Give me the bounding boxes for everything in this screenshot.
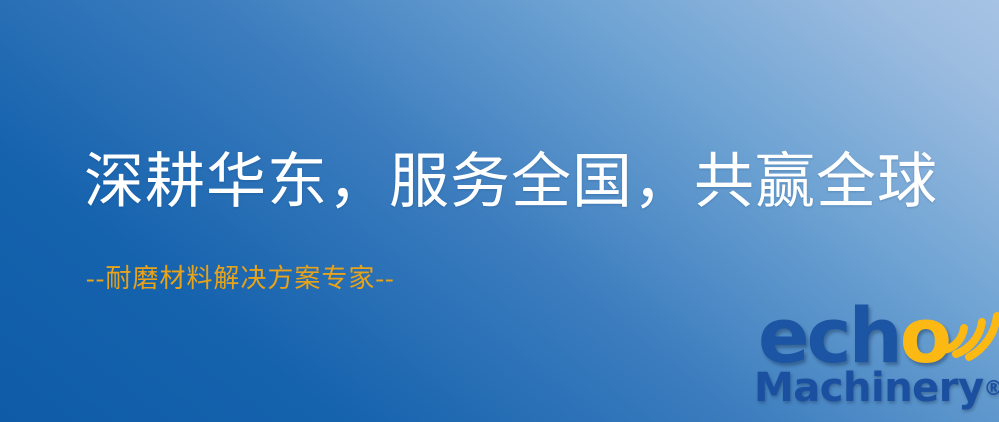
echo-signal-waves-icon <box>938 298 999 358</box>
company-logo[interactable]: echo Machinery® <box>748 296 996 420</box>
banner-headline: 深耕华东，服务全国，共赢全球 <box>84 152 938 212</box>
registered-trademark-icon: ® <box>984 376 999 400</box>
logo-brand-name: echo <box>758 300 949 372</box>
banner-subtitle: --耐磨材料解决方案专家-- <box>86 266 395 292</box>
logo-tagline-text: Machinery <box>754 365 984 411</box>
logo-wordmark: echo <box>752 300 996 372</box>
promotional-banner: 深耕华东，服务全国，共赢全球 --耐磨材料解决方案专家-- echo Machi… <box>0 0 999 422</box>
logo-tagline: Machinery® <box>754 364 999 412</box>
